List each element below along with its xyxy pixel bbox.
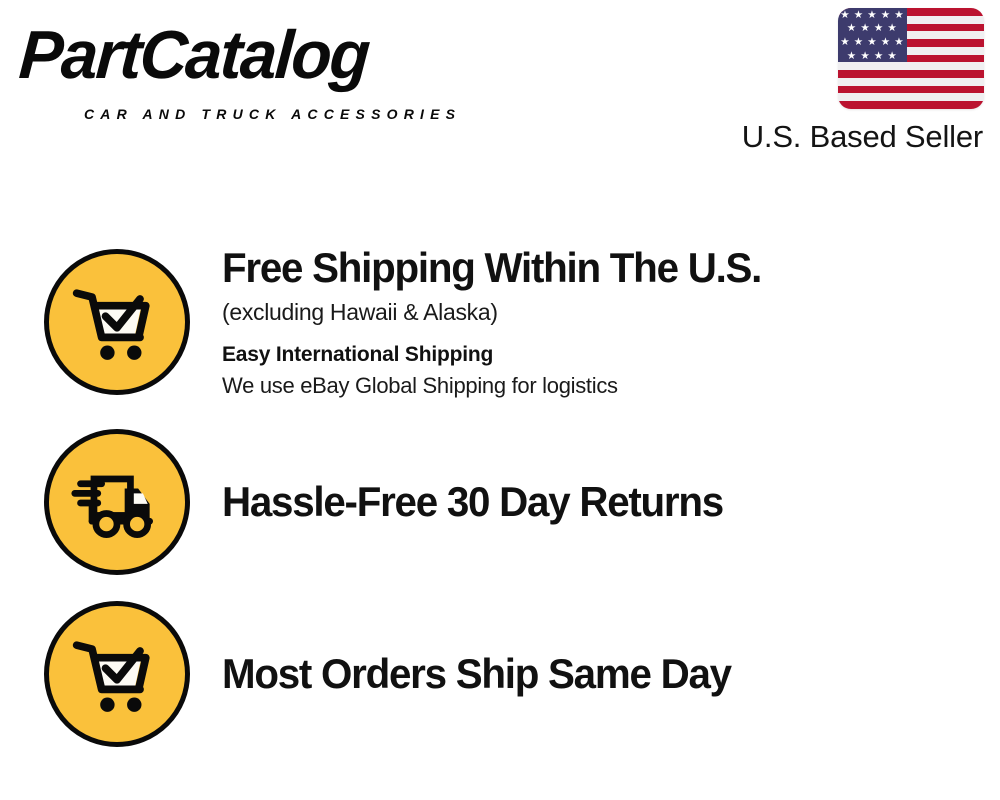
brand-wordmark: PartCatalog — [17, 18, 371, 92]
flag-stripe — [838, 93, 984, 101]
feature-text: Free Shipping Within The U.S. (excluding… — [222, 243, 1000, 401]
flag-star-icon: ★ — [894, 37, 903, 48]
feature-subtitle: (excluding Hawaii & Alaska) — [222, 296, 980, 328]
feature-secondary-note: We use eBay Global Shipping for logistic… — [222, 371, 980, 401]
flag-star-icon: ★ — [881, 10, 890, 21]
flag-star-icon: ★ — [867, 37, 876, 48]
flag-canton: ★★★★★★★★★★★★★★★★★★ — [838, 8, 907, 62]
flag-star-icon: ★ — [887, 23, 896, 34]
flag-star-icon: ★ — [874, 23, 883, 34]
cart-glyph — [69, 626, 165, 722]
flag-star-icon: ★ — [860, 50, 869, 61]
flag-star-icon: ★ — [874, 50, 883, 61]
feature-text: Hassle-Free 30 Day Returns — [222, 477, 1000, 527]
flag-star-icon: ★ — [867, 10, 876, 21]
partcatalog-logo: PartCatalog CAR AND TRUCK ACCESSORIES — [22, 18, 492, 118]
flag-star-icon: ★ — [854, 37, 863, 48]
us-flag-icon: ★★★★★★★★★★★★★★★★★★ — [838, 8, 984, 109]
flag-stripe — [838, 78, 984, 86]
cart-glyph — [69, 274, 165, 370]
feature-text: Most Orders Ship Same Day — [222, 649, 1000, 699]
feature-row: Most Orders Ship Same Day — [0, 600, 1000, 748]
promo-banner: PartCatalog CAR AND TRUCK ACCESSORIES — [0, 0, 1000, 800]
feature-secondary-title: Easy International Shipping — [222, 340, 980, 370]
flag-stripe — [838, 62, 984, 70]
flag-star-icon: ★ — [881, 37, 890, 48]
brand-tagline: CAR AND TRUCK ACCESSORIES — [84, 106, 461, 122]
delivery-truck-icon — [44, 429, 190, 575]
feature-row: Hassle-Free 30 Day Returns — [0, 428, 1000, 576]
flag-star-icon: ★ — [840, 10, 849, 21]
flag-star-icon: ★ — [840, 37, 849, 48]
shopping-cart-check-icon — [44, 601, 190, 747]
flag-stripe — [838, 86, 984, 94]
flag-star-icon: ★ — [887, 50, 896, 61]
flag-star-icon: ★ — [847, 50, 856, 61]
feature-title: Free Shipping Within The U.S. — [222, 243, 950, 293]
feature-title: Hassle-Free 30 Day Returns — [222, 477, 950, 527]
flag-stripe — [838, 70, 984, 78]
flag-stripe — [838, 101, 984, 109]
flag-star-icon: ★ — [860, 23, 869, 34]
banner-header: PartCatalog CAR AND TRUCK ACCESSORIES — [0, 0, 1000, 170]
shopping-cart-check-icon — [44, 249, 190, 395]
flag-star-icon: ★ — [854, 10, 863, 21]
flag-star-icon: ★ — [847, 23, 856, 34]
us-based-seller-badge: ★★★★★★★★★★★★★★★★★★ U.S. Based Seller — [714, 8, 984, 155]
feature-title: Most Orders Ship Same Day — [222, 649, 950, 699]
flag-star-icon: ★ — [894, 10, 903, 21]
feature-row: Free Shipping Within The U.S. (excluding… — [0, 236, 1000, 408]
seller-label: U.S. Based Seller — [714, 119, 984, 155]
truck-glyph — [69, 454, 165, 550]
